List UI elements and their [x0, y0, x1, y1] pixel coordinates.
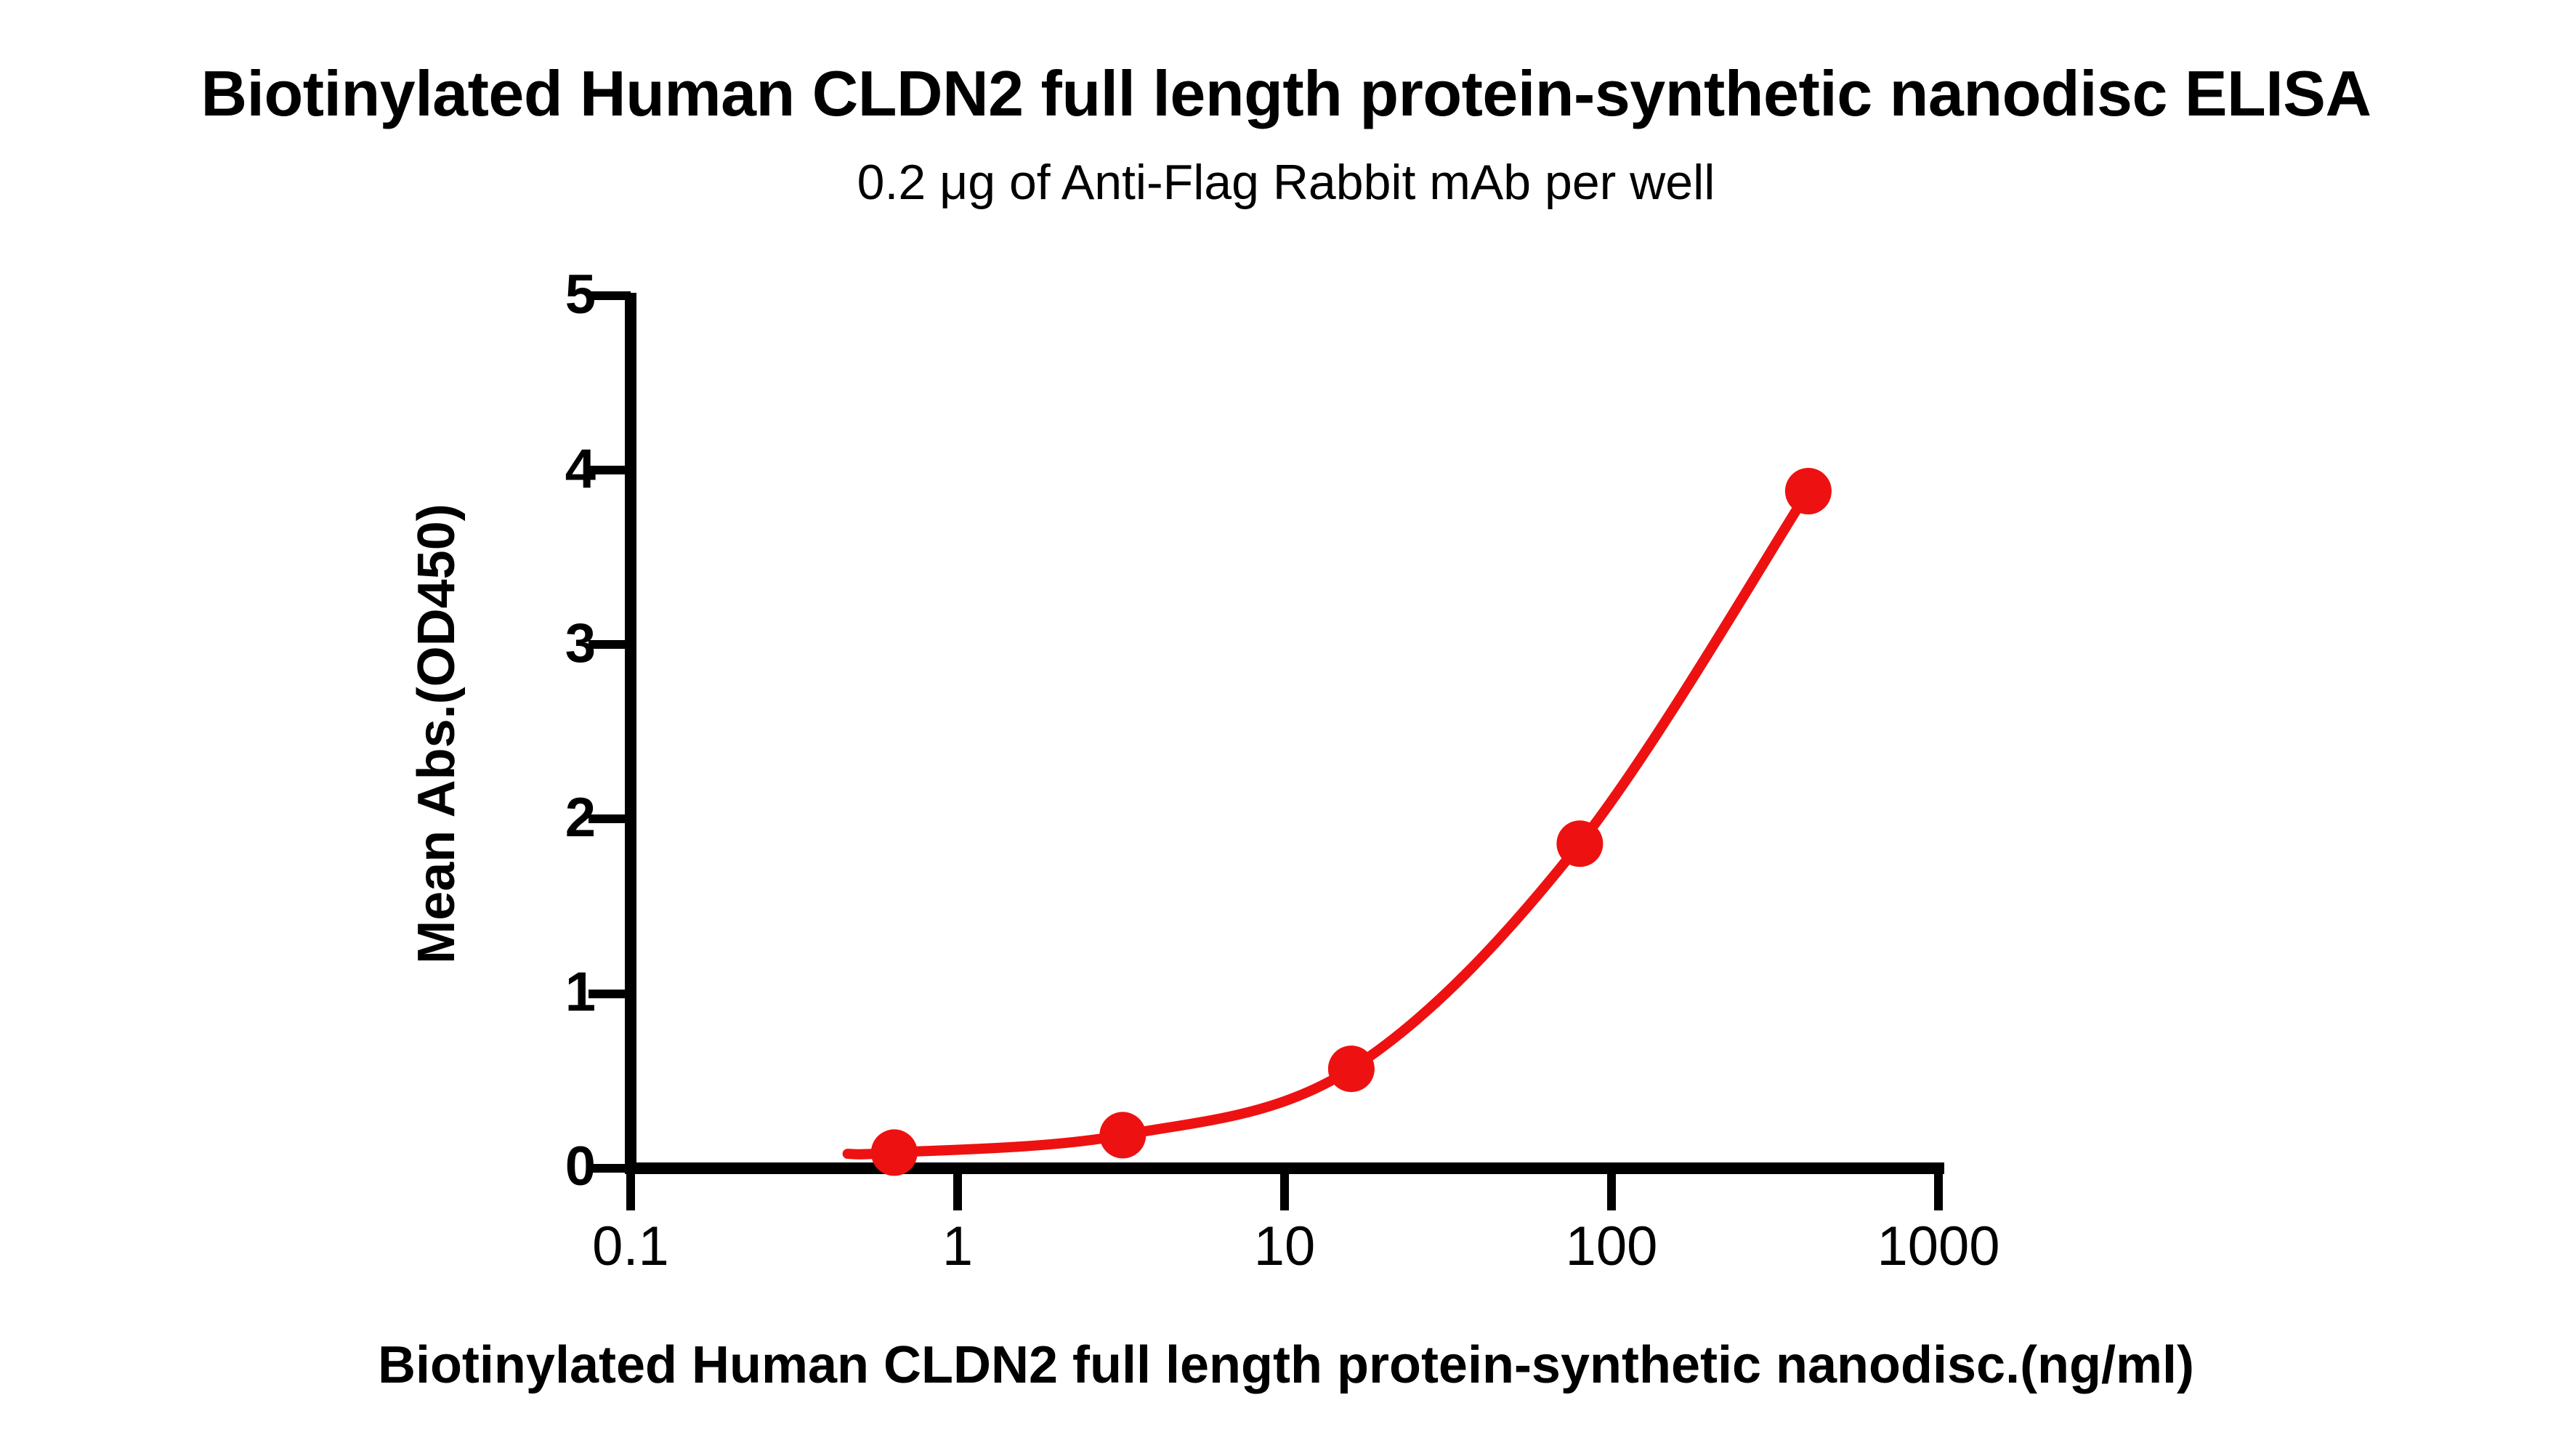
data-point-marker [1556, 820, 1603, 867]
data-point-marker [1099, 1112, 1146, 1158]
plot-canvas [0, 0, 2572, 1456]
data-point-marker [1328, 1046, 1375, 1092]
x-axis-ticks [631, 1168, 1938, 1210]
y-axis-ticks [589, 296, 631, 1168]
series-data-markers [871, 468, 1832, 1176]
elisa-chart-figure: Biotinylated Human CLDN2 full length pro… [0, 0, 2572, 1456]
data-point-marker [1785, 468, 1832, 514]
series-curve-line [848, 491, 1808, 1154]
data-point-marker [871, 1129, 918, 1176]
